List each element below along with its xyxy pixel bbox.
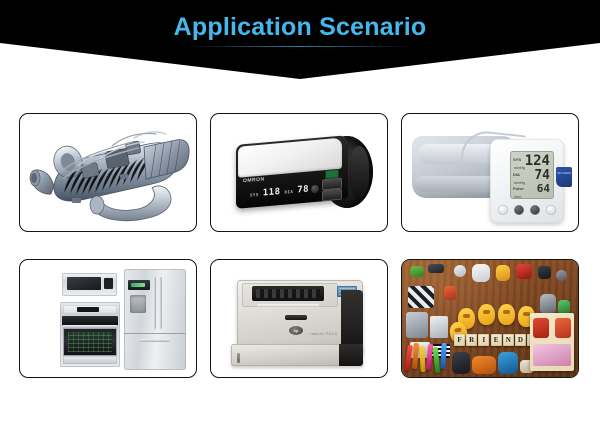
toy-domino	[430, 316, 448, 338]
scenario-card-kitchen-appliances[interactable]	[19, 259, 197, 378]
header-underline-divider	[185, 46, 415, 47]
pen-blue	[440, 343, 446, 369]
pen-yellow	[419, 346, 425, 372]
omron-systolic-value: 118	[263, 187, 281, 199]
refrigerator	[124, 269, 186, 370]
microwave-oven	[62, 273, 117, 296]
toy-orange-dragon	[472, 356, 496, 374]
printer-body: hp LaserJet P3015	[237, 280, 363, 354]
printer-paper-slot	[256, 303, 320, 307]
toy-black-figure	[538, 266, 551, 279]
omron-display-readout: SYS 118 DIA 78	[250, 185, 309, 200]
fridge-water-dispenser	[130, 295, 146, 313]
bp-button-start	[514, 205, 524, 215]
printer-model-label: LaserJet P3015	[310, 332, 337, 336]
toy-green-block	[410, 266, 424, 277]
bp-button-left	[498, 205, 508, 215]
toy-chick-2	[478, 304, 495, 325]
bp-main-unit: SYS mmHg 124 DIA mmHg 74 Pulse /min 64 S…	[490, 139, 564, 223]
bp-button-right	[546, 205, 556, 215]
toy-dark-car	[428, 264, 444, 273]
fridge-left-handle	[153, 277, 156, 329]
oven-door-handle	[62, 325, 118, 328]
application-scenario-gallery: OMRON SYS 118 DIA 78 SYS mmHg	[19, 113, 579, 378]
scrabble-tile: N	[503, 334, 514, 346]
bp-unit-pulse: /min	[514, 195, 521, 199]
pen-green	[433, 347, 441, 373]
toy-package-lower	[533, 344, 571, 366]
bp-unit-sys: mmHg	[514, 166, 525, 170]
scenario-card-omron-monitor[interactable]: OMRON SYS 118 DIA 78	[210, 113, 388, 232]
toy-package-box	[530, 313, 574, 371]
omron-brand-label: OMRON	[243, 176, 265, 184]
toy-yellow-figure	[496, 265, 510, 281]
bp-memory-card: SD CARD	[556, 167, 572, 187]
scenario-card-toys-friends[interactable]: F R I E N D S	[401, 259, 579, 378]
toy-checker-block	[408, 286, 434, 308]
toys-tabletop-image: F R I E N D S	[402, 260, 578, 377]
printer-front-handle	[285, 315, 307, 320]
bp-value-sys: 124	[525, 154, 550, 168]
omron-monitor-image: OMRON SYS 118 DIA 78	[211, 114, 387, 231]
bp-button-memory	[530, 205, 540, 215]
bp-label-sys: SYS	[513, 157, 521, 162]
omron-stop-button	[322, 189, 342, 202]
omron-sys-unit: SYS	[250, 192, 259, 198]
fridge-control-panel	[128, 280, 150, 290]
oven-storage-drawer	[63, 356, 117, 364]
pen-orange	[412, 343, 419, 369]
toy-black-robot	[452, 352, 470, 374]
fridge-right-handle	[159, 277, 162, 329]
range-oven	[60, 302, 120, 367]
scrabble-tile: E	[491, 334, 502, 346]
scenario-card-laser-printer[interactable]: hp LaserJet P3015	[210, 259, 388, 378]
turbine-engine-illustration	[20, 114, 197, 232]
bp-button-row	[498, 205, 556, 215]
scrabble-tile: D	[515, 334, 526, 346]
omron-dia-unit: DIA	[285, 189, 294, 195]
bp-monitor-image: SYS mmHg 124 DIA mmHg 74 Pulse /min 64 S…	[402, 114, 578, 231]
bp-value-pulse: 64	[537, 183, 550, 194]
printer-right-side-panel	[341, 290, 363, 352]
scrabble-tiles-friends: F R I E N D S	[454, 334, 538, 346]
oven-control-panel	[63, 305, 117, 314]
bp-label-pulse: Pulse	[513, 186, 524, 191]
toy-grey-ball	[556, 270, 567, 281]
kitchen-appliances-image	[20, 260, 196, 377]
omron-diastolic-value: 78	[297, 185, 309, 196]
toy-orange-piece	[444, 286, 456, 300]
toy-red-figure	[516, 264, 532, 279]
fridge-freezer-handle	[140, 339, 170, 342]
oven-door	[63, 328, 117, 356]
bp-unit-dia: mmHg	[514, 181, 525, 185]
toy-chick-3	[498, 304, 515, 325]
scrabble-tile: I	[478, 334, 489, 346]
hp-logo-icon: hp	[289, 326, 303, 335]
scenario-card-turbine-engine[interactable]	[19, 113, 197, 232]
toy-grey-robot	[540, 294, 556, 314]
bp-lcd-screen: SYS mmHg 124 DIA mmHg 74 Pulse /min 64	[510, 151, 554, 199]
toy-green-dino	[558, 300, 570, 314]
printer-tray-grip	[237, 353, 240, 363]
toy-pen-bundle	[406, 341, 448, 373]
toy-grey-brick	[406, 312, 428, 338]
page-title: Application Scenario	[0, 13, 600, 42]
scenario-card-bp-monitor-cuff[interactable]: SYS mmHg 124 DIA mmHg 74 Pulse /min 64 S…	[401, 113, 579, 232]
printer-top-shell	[242, 283, 338, 307]
turbine-engine-image	[20, 114, 196, 231]
laser-printer-image: hp LaserJet P3015	[211, 260, 387, 377]
scrabble-tile: F	[454, 334, 465, 346]
printer-output-bin	[252, 286, 324, 301]
bp-value-dia: 74	[534, 169, 550, 182]
scrabble-tile: R	[466, 334, 477, 346]
toy-blue-dragon	[498, 352, 518, 374]
printer-paper-tray	[231, 344, 363, 366]
toy-white-ball	[454, 265, 466, 277]
toy-white-figure	[472, 264, 490, 282]
omron-power-knob	[311, 185, 319, 194]
fridge-door-split	[124, 333, 186, 334]
omron-device-body: OMRON SYS 118 DIA 78	[236, 135, 348, 209]
page-header: Application Scenario	[0, 0, 600, 80]
bp-label-dia: DIA	[513, 172, 520, 177]
